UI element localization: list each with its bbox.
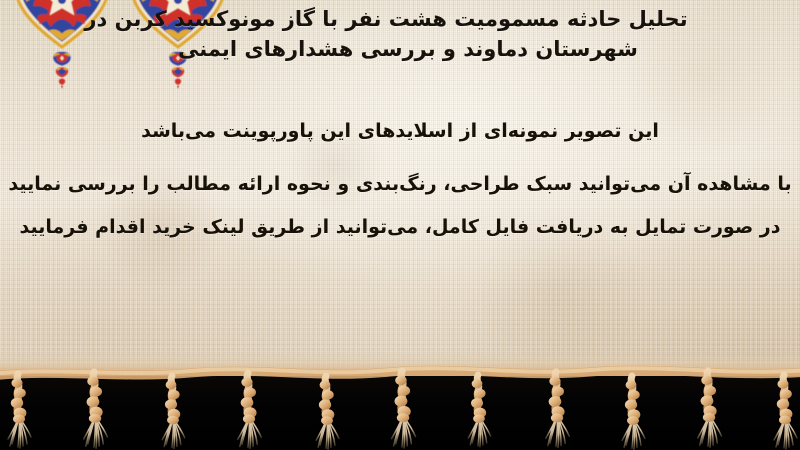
slide-body: این تصویر نمونه‌ای از اسلایدهای این پاور…	[0, 110, 800, 249]
title-line-2: شهرستان دماوند و بررسی هشدارهای ایمنی	[8, 34, 800, 64]
title-line-1: تحلیل حادثه مسمومیت هشت نفر با گاز مونوک…	[8, 4, 764, 34]
body-line-1: این تصویر نمونه‌ای از اسلایدهای این پاور…	[0, 110, 800, 153]
carpet-fringe-tassels-icon	[0, 352, 800, 450]
slide-title: تحلیل حادثه مسمومیت هشت نفر با گاز مونوک…	[8, 4, 800, 64]
slide-text-layer: تحلیل حادثه مسمومیت هشت نفر با گاز مونوک…	[0, 0, 800, 378]
presentation-slide: تحلیل حادثه مسمومیت هشت نفر با گاز مونوک…	[0, 0, 800, 450]
carpet-fringe	[0, 352, 800, 450]
body-line-3: در صورت تمایل به دریافت فایل کامل، می‌تو…	[0, 206, 800, 249]
body-line-2: با مشاهده آن می‌توانید سبک طراحی، رنگ‌بن…	[0, 163, 800, 206]
